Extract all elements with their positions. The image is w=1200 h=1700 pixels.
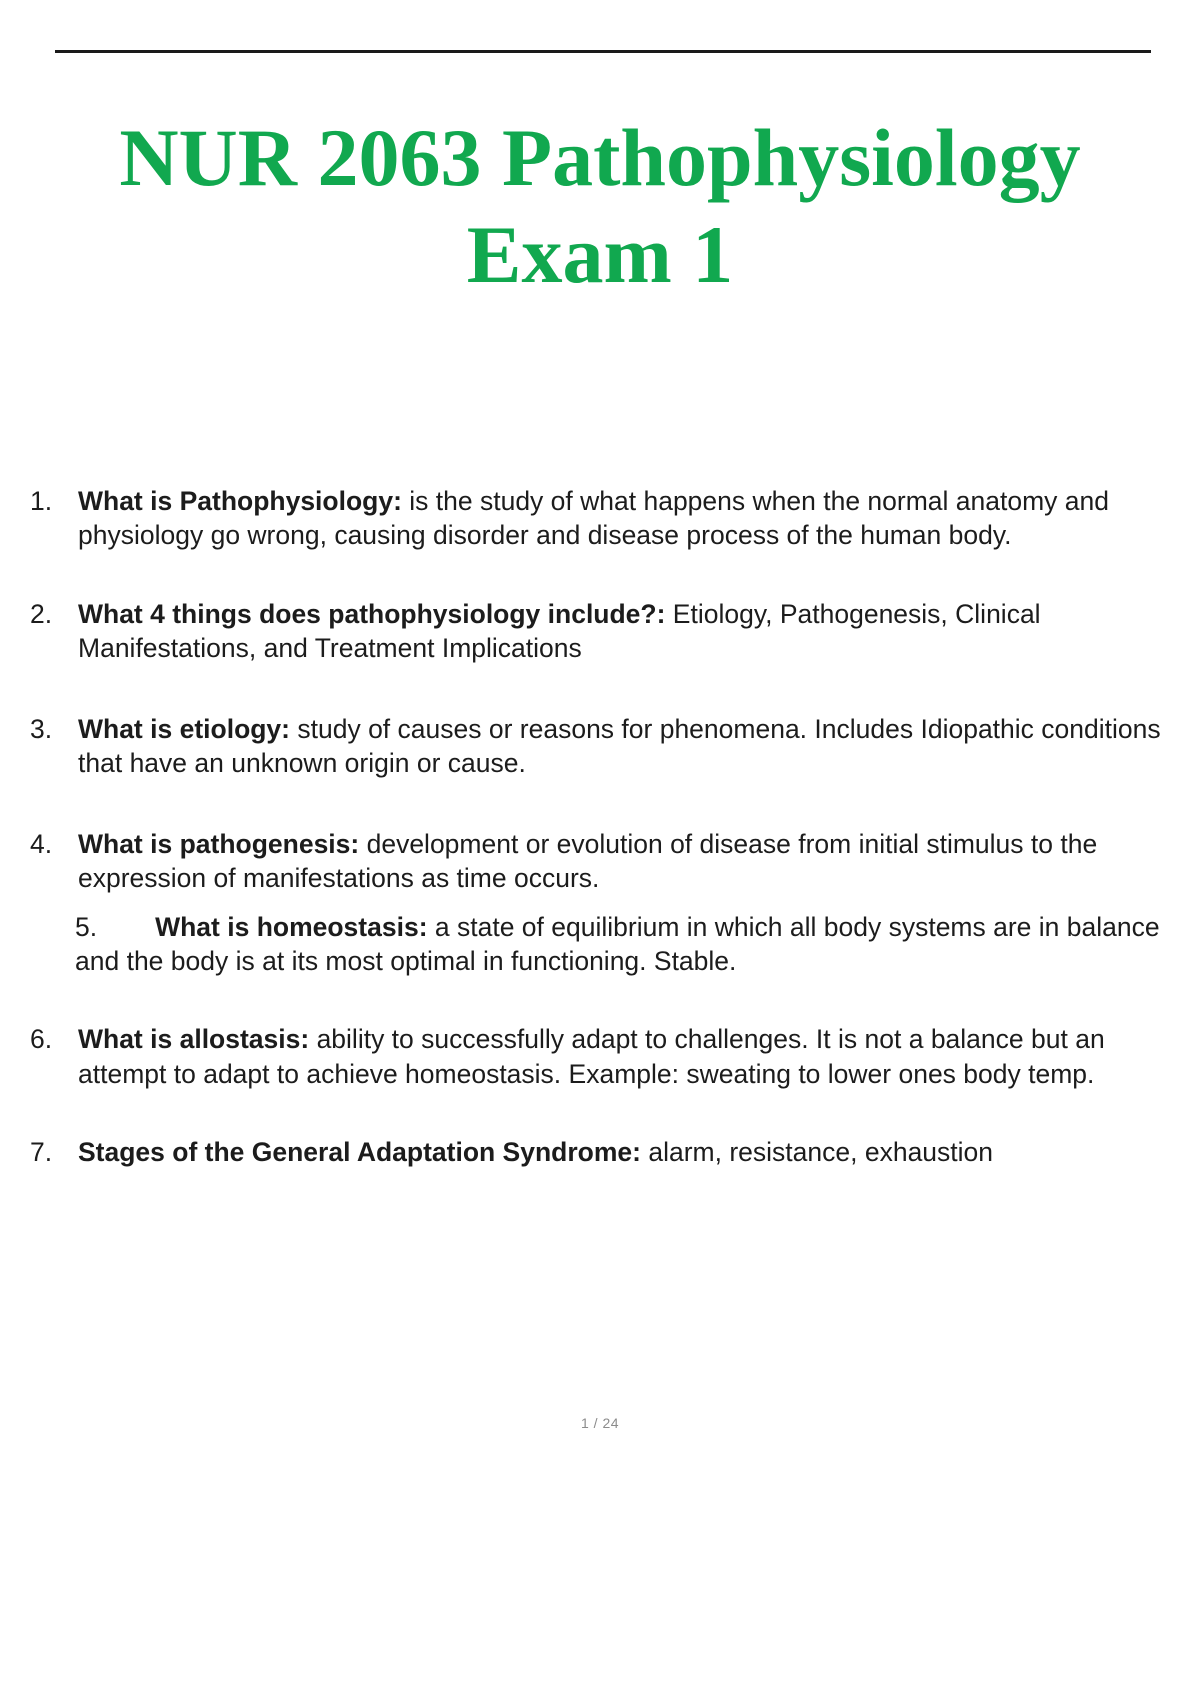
list-item-question: What is Pathophysiology:: [78, 486, 402, 516]
list-item-question: What is allostasis:: [78, 1024, 309, 1054]
page-title-line-1: NUR 2063 Pathophysiology: [40, 110, 1160, 207]
list-item: 4.What is pathogenesis: development or e…: [0, 827, 1200, 896]
list-item-number: 4.: [30, 827, 70, 861]
list-item: 6.What is allostasis: ability to success…: [0, 1022, 1200, 1091]
list-item-question: What is homeostasis:: [155, 912, 427, 942]
header-divider: [55, 50, 1151, 53]
list-item-number: 2.: [30, 597, 70, 631]
list-item-question: What 4 things does pathophysiology inclu…: [78, 599, 665, 629]
list-item-question: What is pathogenesis:: [78, 829, 359, 859]
list-item: 3.What is etiology: study of causes or r…: [0, 712, 1200, 781]
list-item: 1.What is Pathophysiology: is the study …: [0, 484, 1200, 553]
list-item-number: 5.: [75, 912, 155, 942]
page-indicator: 1 / 24: [0, 1415, 1200, 1431]
list-item: 2.What 4 things does pathophysiology inc…: [0, 597, 1200, 666]
list-item: 7.Stages of the General Adaptation Syndr…: [0, 1135, 1200, 1169]
list-item-number: 1.: [30, 484, 70, 518]
list-item-question: What is etiology:: [78, 714, 290, 744]
question-answer-list: 1.What is Pathophysiology: is the study …: [0, 484, 1200, 1170]
page-title: NUR 2063 Pathophysiology Exam 1: [40, 110, 1160, 304]
list-item-number: 6.: [30, 1022, 70, 1056]
list-item-number: 3.: [30, 712, 70, 746]
document-page: NUR 2063 Pathophysiology Exam 1 1.What i…: [0, 0, 1200, 1700]
list-item-number: 7.: [30, 1135, 70, 1169]
list-item-question: Stages of the General Adaptation Syndrom…: [78, 1137, 641, 1167]
page-title-line-2: Exam 1: [40, 207, 1160, 304]
list-item-answer: alarm, resistance, exhaustion: [641, 1137, 993, 1167]
list-item: 5.What is homeostasis: a state of equili…: [0, 910, 1200, 979]
